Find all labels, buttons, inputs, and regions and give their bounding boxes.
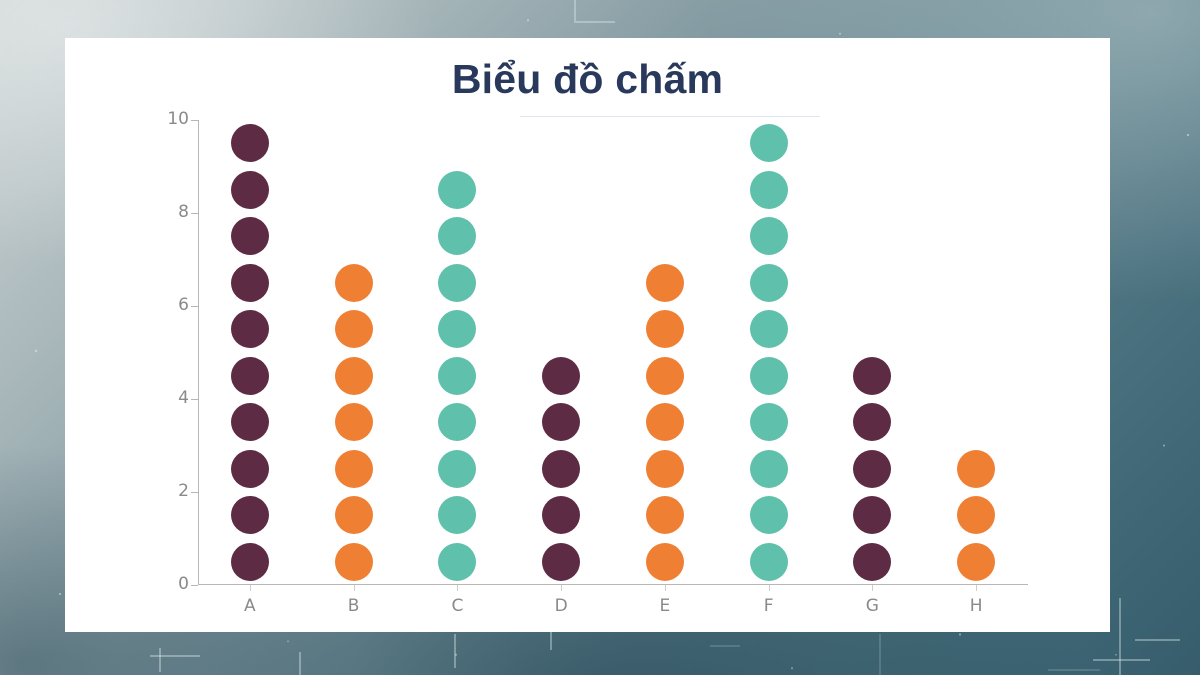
x-axis-tick-label: D: [555, 596, 568, 616]
data-point-dot: [750, 310, 788, 348]
data-point-dot: [438, 264, 476, 302]
data-point-dot: [646, 310, 684, 348]
x-axis-tick-mark: [976, 585, 977, 591]
data-point-dot: [335, 357, 373, 395]
data-point-dot: [231, 450, 269, 488]
chart-card: Biểu đồ chấm 0246810 ABCDEFGH: [65, 38, 1110, 632]
data-point-dot: [335, 496, 373, 534]
data-point-dot: [335, 403, 373, 441]
y-axis-tick-mark: [191, 306, 198, 307]
x-axis-tick-label: F: [764, 596, 774, 616]
data-point-dot: [853, 496, 891, 534]
y-axis-tick-label: 0: [178, 574, 189, 594]
x-axis-tick-label: A: [244, 596, 256, 616]
data-point-dot: [853, 403, 891, 441]
page-title: Biểu đồ chấm: [65, 56, 1110, 103]
data-point-dot: [750, 171, 788, 209]
data-point-dot: [335, 450, 373, 488]
data-point-dot: [438, 171, 476, 209]
data-point-dot: [231, 217, 269, 255]
data-point-dot: [853, 450, 891, 488]
x-axis-tick-label: E: [660, 596, 671, 616]
x-axis-tick-label: H: [970, 596, 983, 616]
data-point-dot: [542, 496, 580, 534]
data-point-dot: [957, 543, 995, 581]
data-point-dot: [750, 450, 788, 488]
y-axis-tick-mark: [191, 120, 198, 121]
title-divider: [520, 116, 820, 117]
data-point-dot: [750, 217, 788, 255]
x-axis-tick-mark: [561, 585, 562, 591]
data-point-dot: [438, 450, 476, 488]
data-point-dot: [231, 496, 269, 534]
x-axis-tick-mark: [354, 585, 355, 591]
data-point-dot: [646, 264, 684, 302]
data-point-dot: [438, 217, 476, 255]
data-point-dot: [646, 496, 684, 534]
data-point-dot: [438, 496, 476, 534]
y-axis-tick-label: 4: [178, 388, 189, 408]
data-point-dot: [750, 124, 788, 162]
data-point-dot: [335, 310, 373, 348]
data-point-dot: [231, 264, 269, 302]
y-axis-tick-mark: [191, 492, 198, 493]
x-axis-tick-mark: [457, 585, 458, 591]
data-point-dot: [542, 450, 580, 488]
y-axis-tick-label: 2: [178, 481, 189, 501]
data-point-dot: [646, 450, 684, 488]
x-axis-tick-label: C: [451, 596, 463, 616]
y-axis-tick-label: 6: [178, 295, 189, 315]
data-point-dot: [750, 264, 788, 302]
data-point-dot: [646, 357, 684, 395]
y-axis-line: [198, 120, 199, 585]
x-axis-tick-mark: [250, 585, 251, 591]
data-point-dot: [335, 543, 373, 581]
plot-area: 0246810 ABCDEFGH: [198, 120, 1028, 585]
y-axis-tick-mark: [191, 585, 198, 586]
data-point-dot: [335, 264, 373, 302]
data-point-dot: [750, 357, 788, 395]
data-point-dot: [957, 450, 995, 488]
data-point-dot: [231, 403, 269, 441]
data-point-dot: [646, 403, 684, 441]
data-point-dot: [750, 496, 788, 534]
data-point-dot: [750, 403, 788, 441]
x-axis-tick-label: B: [348, 596, 360, 616]
data-point-dot: [231, 310, 269, 348]
data-point-dot: [542, 403, 580, 441]
data-point-dot: [231, 543, 269, 581]
data-point-dot: [957, 496, 995, 534]
x-axis-tick-mark: [872, 585, 873, 591]
y-axis-tick-mark: [191, 213, 198, 214]
y-axis-tick-mark: [191, 399, 198, 400]
data-point-dot: [231, 124, 269, 162]
x-axis-tick-mark: [769, 585, 770, 591]
y-axis-tick-label: 10: [167, 109, 189, 129]
x-axis-tick-label: G: [866, 596, 879, 616]
data-point-dot: [542, 357, 580, 395]
slide-canvas: Biểu đồ chấm 0246810 ABCDEFGH: [0, 0, 1200, 675]
data-point-dot: [542, 543, 580, 581]
x-axis-line: [198, 584, 1028, 585]
data-point-dot: [853, 543, 891, 581]
data-point-dot: [438, 310, 476, 348]
x-axis-tick-mark: [665, 585, 666, 591]
data-point-dot: [853, 357, 891, 395]
data-point-dot: [231, 357, 269, 395]
data-point-dot: [438, 403, 476, 441]
data-point-dot: [231, 171, 269, 209]
data-point-dot: [438, 357, 476, 395]
y-axis-tick-label: 8: [178, 202, 189, 222]
data-point-dot: [646, 543, 684, 581]
data-point-dot: [438, 543, 476, 581]
data-point-dot: [750, 543, 788, 581]
